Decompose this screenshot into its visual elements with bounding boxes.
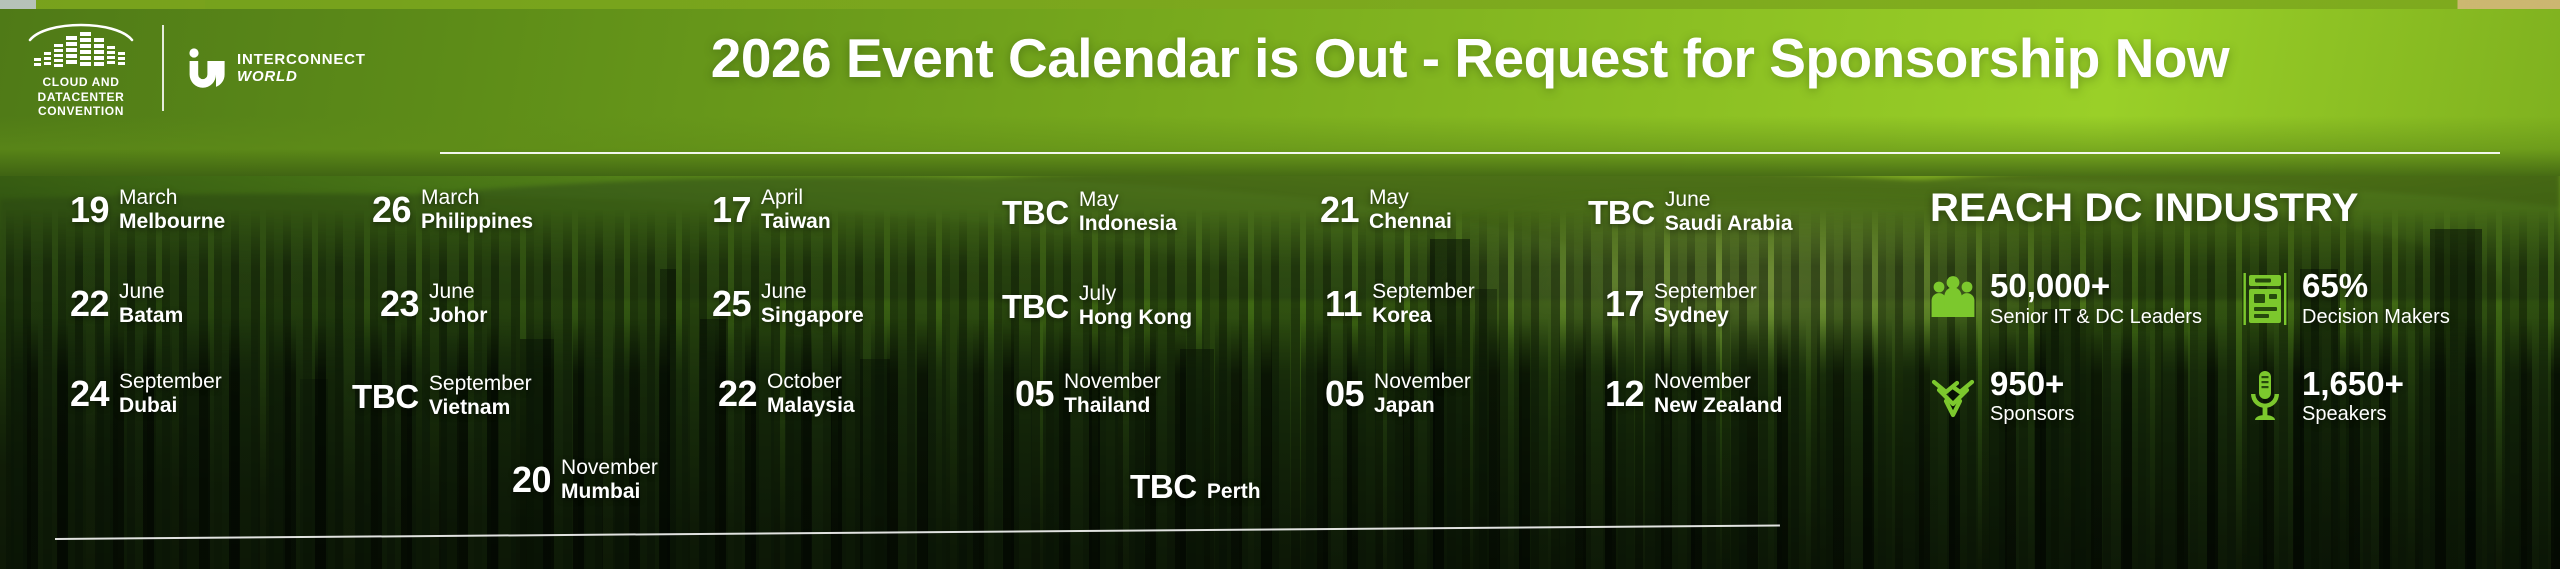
event-day: 17: [1605, 286, 1644, 322]
event-item[interactable]: 05 November Japan: [1325, 370, 1471, 419]
event-location: Hong Kong: [1079, 306, 1192, 330]
cloud-datacenter-convention-logo[interactable]: CLOUD AND DATACENTER CONVENTION: [22, 18, 140, 119]
event-month: September: [1372, 280, 1475, 304]
stat-text: 50,000+ Senior IT & DC Leaders: [1990, 269, 2202, 329]
stat-value: 65%: [2302, 269, 2450, 303]
event-day: 21: [1320, 192, 1359, 228]
event-location: Japan: [1374, 394, 1471, 418]
event-item[interactable]: 19 March Melbourne: [70, 186, 225, 235]
event-item[interactable]: 20 November Mumbai: [512, 456, 658, 505]
banner-headline: 2026 Event Calendar is Out - Request for…: [440, 30, 2500, 87]
reach-stats-grid: 50,000+ Senior IT & DC Leaders: [1930, 269, 2530, 426]
event-meta: October Malaysia: [767, 370, 855, 419]
headline-underline-rule: [440, 152, 2500, 154]
event-meta: May Chennai: [1369, 186, 1452, 235]
iw-monogram-icon: [186, 46, 228, 90]
event-location: Korea: [1372, 304, 1475, 328]
stat-value: 1,650+: [2302, 367, 2404, 401]
event-meta: November Mumbai: [561, 456, 658, 505]
event-location: Mumbai: [561, 480, 658, 504]
stat-text: 1,650+ Speakers: [2302, 367, 2404, 427]
event-location: Melbourne: [119, 210, 225, 234]
event-month: May: [1079, 188, 1177, 212]
event-calendar-banner: CLOUD AND DATACENTER CONVENTION INTERCON…: [0, 0, 2560, 569]
event-location: Saudi Arabia: [1665, 212, 1793, 236]
event-location: Batam: [119, 304, 183, 328]
event-month: June: [1665, 188, 1793, 212]
event-item[interactable]: TBC September Vietnam: [352, 372, 532, 421]
event-item[interactable]: TBC June Saudi Arabia: [1588, 188, 1793, 237]
event-month: November: [1654, 370, 1782, 394]
event-meta: May Indonesia: [1079, 188, 1177, 237]
event-month: April: [761, 186, 831, 210]
event-day: 19: [70, 192, 109, 228]
handshake-icon: [1930, 370, 1976, 422]
event-day: 11: [1325, 286, 1362, 322]
event-meta: April Taiwan: [761, 186, 831, 235]
logo-divider: [162, 25, 164, 111]
event-item[interactable]: 26 March Philippines: [372, 186, 533, 235]
event-month: November: [561, 456, 658, 480]
stat-item: 65% Decision Makers: [2242, 269, 2530, 329]
event-month: November: [1064, 370, 1161, 394]
event-location: Vietnam: [429, 396, 532, 420]
event-month: March: [421, 186, 533, 210]
event-day: TBC: [352, 380, 419, 413]
event-item[interactable]: 05 November Thailand: [1015, 370, 1161, 419]
event-day: TBC: [1130, 470, 1197, 503]
event-item[interactable]: 17 September Sydney: [1605, 280, 1757, 329]
iw-line-2: WORLD: [237, 68, 366, 85]
microphone-icon: [2242, 370, 2288, 422]
event-item[interactable]: 17 April Taiwan: [712, 186, 831, 235]
stat-label: Decision Makers: [2302, 305, 2450, 329]
event-day: 22: [718, 376, 757, 412]
event-day: 20: [512, 462, 551, 498]
event-calendar-grid: 19 March Melbourne 26 March Philippines …: [0, 178, 1870, 518]
stat-label: Sponsors: [1990, 402, 2075, 426]
event-location: Philippines: [421, 210, 533, 234]
event-day: 12: [1605, 376, 1644, 412]
event-meta: March Philippines: [421, 186, 533, 235]
event-meta: September Sydney: [1654, 280, 1757, 329]
stat-item: 50,000+ Senior IT & DC Leaders: [1930, 269, 2242, 329]
event-location: Singapore: [761, 304, 864, 328]
event-item[interactable]: TBC Perth: [1130, 470, 1261, 504]
event-location: Thailand: [1064, 394, 1161, 418]
event-meta: June Batam: [119, 280, 183, 329]
event-location: Johor: [429, 304, 487, 328]
event-month: October: [767, 370, 855, 394]
event-month: September: [429, 372, 532, 396]
stat-item: 950+ Sponsors: [1930, 367, 2242, 427]
event-meta: March Melbourne: [119, 186, 225, 235]
event-month: September: [119, 370, 222, 394]
event-month: July: [1079, 282, 1192, 306]
event-day: 26: [372, 192, 411, 228]
people-icon: [1930, 273, 1976, 325]
event-location: Indonesia: [1079, 212, 1177, 236]
event-month: May: [1369, 186, 1452, 210]
event-item[interactable]: 12 November New Zealand: [1605, 370, 1782, 419]
event-item[interactable]: 24 September Dubai: [70, 370, 222, 419]
event-day: 22: [70, 286, 109, 322]
event-meta: July Hong Kong: [1079, 282, 1192, 331]
stat-value: 950+: [1990, 367, 2075, 401]
event-month: March: [119, 186, 225, 210]
event-location: Sydney: [1654, 304, 1757, 328]
event-day: 25: [712, 286, 751, 322]
event-month: June: [119, 280, 183, 304]
event-day: 05: [1325, 376, 1364, 412]
event-item[interactable]: TBC July Hong Kong: [1002, 282, 1192, 331]
event-location: Perth: [1207, 480, 1261, 504]
server-icon: [2242, 273, 2288, 325]
event-item[interactable]: 21 May Chennai: [1320, 186, 1452, 235]
datacenter-building-icon: [26, 18, 136, 70]
stat-text: 65% Decision Makers: [2302, 269, 2450, 329]
stat-value: 50,000+: [1990, 269, 2202, 303]
event-location: Dubai: [119, 394, 222, 418]
event-meta: June Johor: [429, 280, 487, 329]
reach-panel-title: REACH DC INDUSTRY: [1930, 186, 2530, 231]
event-meta: November Japan: [1374, 370, 1471, 419]
event-day: 17: [712, 192, 751, 228]
event-item[interactable]: 23 June Johor: [380, 280, 487, 329]
event-item[interactable]: TBC May Indonesia: [1002, 188, 1177, 237]
event-location: New Zealand: [1654, 394, 1782, 418]
stat-text: 950+ Sponsors: [1990, 367, 2075, 427]
iw-wordmark: INTERCONNECT WORLD: [237, 51, 366, 85]
event-meta: September Korea: [1372, 280, 1475, 329]
event-item[interactable]: 25 June Singapore: [712, 280, 864, 329]
event-meta: September Dubai: [119, 370, 222, 419]
cdc-line-3: CONVENTION: [38, 104, 125, 119]
cdc-logo-wordmark: CLOUD AND DATACENTER CONVENTION: [38, 75, 125, 119]
event-meta: November New Zealand: [1654, 370, 1782, 419]
event-month: September: [1654, 280, 1757, 304]
event-location: Taiwan: [761, 210, 831, 234]
stat-item: 1,650+ Speakers: [2242, 367, 2530, 427]
event-day: TBC: [1588, 196, 1655, 229]
event-location: Malaysia: [767, 394, 855, 418]
event-day: 24: [70, 376, 109, 412]
stat-label: Senior IT & DC Leaders: [1990, 305, 2202, 329]
event-meta: November Thailand: [1064, 370, 1161, 419]
event-meta: June Singapore: [761, 280, 864, 329]
reach-dc-industry-panel: REACH DC INDUSTRY 50,000+ Senior IT & DC…: [1930, 186, 2530, 426]
event-meta: Perth: [1207, 480, 1261, 504]
event-location: Chennai: [1369, 210, 1452, 234]
event-month: June: [761, 280, 864, 304]
event-meta: September Vietnam: [429, 372, 532, 421]
event-month: November: [1374, 370, 1471, 394]
event-item[interactable]: 11 September Korea: [1325, 280, 1475, 329]
iw-line-1: INTERCONNECT: [237, 51, 366, 68]
event-item[interactable]: 22 June Batam: [70, 280, 183, 329]
event-day: TBC: [1002, 196, 1069, 229]
event-day: TBC: [1002, 290, 1069, 323]
interconnect-world-logo[interactable]: INTERCONNECT WORLD: [186, 46, 366, 90]
event-day: 23: [380, 286, 419, 322]
stat-label: Speakers: [2302, 402, 2404, 426]
cdc-line-1: CLOUD AND: [38, 75, 125, 90]
event-day: 05: [1015, 376, 1054, 412]
logo-lockup: CLOUD AND DATACENTER CONVENTION INTERCON…: [22, 18, 366, 119]
event-item[interactable]: 22 October Malaysia: [718, 370, 855, 419]
cdc-line-2: DATACENTER: [38, 90, 125, 105]
event-meta: June Saudi Arabia: [1665, 188, 1793, 237]
top-edge-strip: [0, 0, 2560, 9]
event-month: June: [429, 280, 487, 304]
